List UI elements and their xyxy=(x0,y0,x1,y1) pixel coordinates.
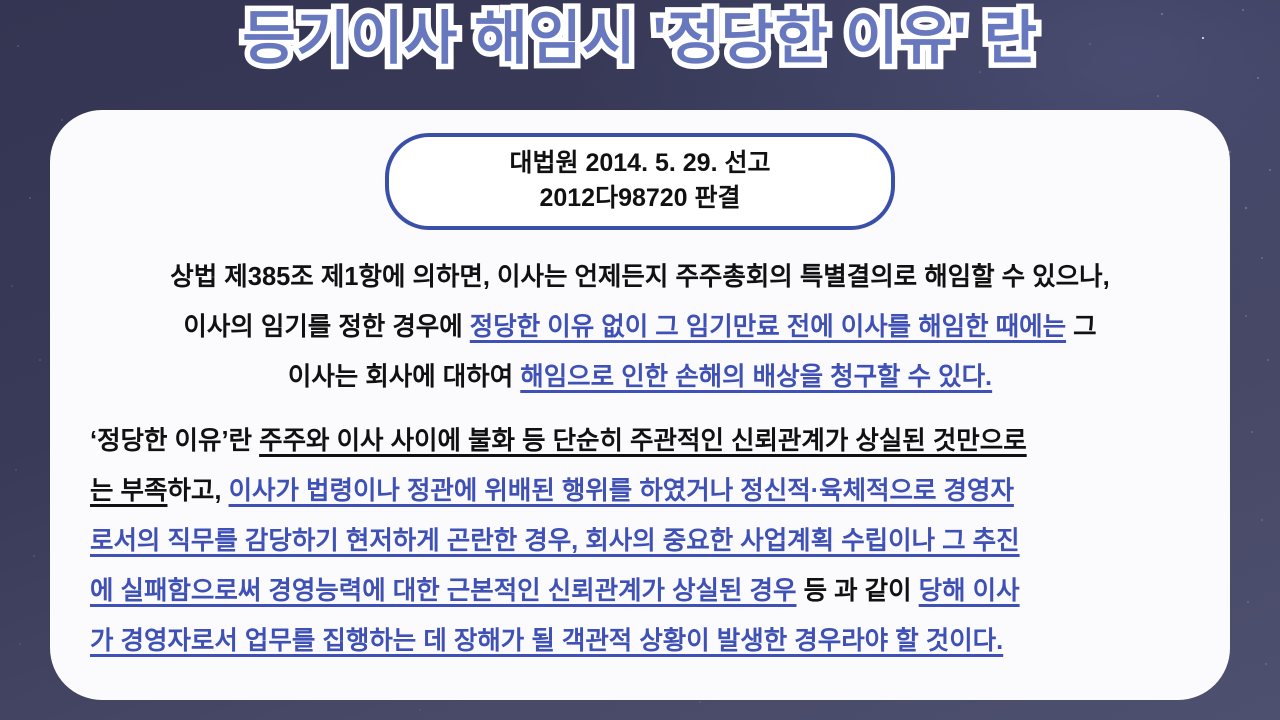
text-run-group: 는 부족하고, 이사가 법령이나 정관에 위배된 행위를 하였거나 정신적·육체… xyxy=(90,466,1014,516)
paragraph-reasoning: ‘정당한 이유’란 주주와 이사 사이에 불화 등 단순히 주관적인 신뢰관계가… xyxy=(76,416,1204,666)
paragraph-statute-line-2: 이사의 임기를 정한 경우에 정당한 이유 없이 그 임기만료 전에 이사를 해… xyxy=(90,302,1190,352)
underline-run: 는 부족 xyxy=(90,477,167,505)
page-title: 등기이사 해임시 '정당한 이유' 란 xyxy=(0,6,1280,73)
citation-line-2: 2012다98720 판결 xyxy=(443,181,837,216)
paragraph-reasoning-line-1: ‘정당한 이유’란 주주와 이사 사이에 불화 등 단순히 주관적인 신뢰관계가… xyxy=(90,416,1190,466)
highlight-run: 가 경영자로서 업무를 집행하는 데 장해가 될 객관적 상황이 발생한 경우라… xyxy=(90,627,1003,655)
highlight-run: 당해 이사 xyxy=(919,577,1020,605)
highlight-run: 로서의 직무를 감당하기 현저하게 곤란한 경우, 회사의 중요한 사업계획 수… xyxy=(90,527,1020,555)
paragraph-statute-line-1: 상법 제385조 제1항에 의하면, 이사는 언제든지 주주총회의 특별결의로 … xyxy=(90,252,1190,302)
paragraph-reasoning-line-4: 에 실패함으로써 경영능력에 대한 근본적인 신뢰관계가 상실된 경우 등 과 … xyxy=(90,566,1190,616)
text-run-group: ‘정당한 이유’란 주주와 이사 사이에 불화 등 단순히 주관적인 신뢰관계가… xyxy=(90,416,1027,466)
highlight-run: 이사가 법령이나 정관에 위배된 행위를 하였거나 정신적·육체적으로 경영자 xyxy=(229,477,1014,505)
underline-run: 주주와 이사 사이에 불화 등 단순히 주관적인 신뢰관계가 상실된 것만으로 xyxy=(259,427,1027,455)
text-run-group: 가 경영자로서 업무를 집행하는 데 장해가 될 객관적 상황이 발생한 경우라… xyxy=(90,616,1003,666)
content-card: 대법원 2014. 5. 29. 선고 2012다98720 판결 상법 제38… xyxy=(50,110,1230,700)
citation-badge: 대법원 2014. 5. 29. 선고 2012다98720 판결 xyxy=(385,133,895,230)
highlight-run: 정당한 이유 없이 그 임기만료 전에 이사를 해임한 때에는 xyxy=(470,313,1066,341)
citation-badge-wrapper: 대법원 2014. 5. 29. 선고 2012다98720 판결 xyxy=(76,133,1204,230)
slide-canvas: 등기이사 해임시 '정당한 이유' 란 대법원 2014. 5. 29. 선고 … xyxy=(0,0,1280,720)
paragraph-reasoning-line-3: 로서의 직무를 감당하기 현저하게 곤란한 경우, 회사의 중요한 사업계획 수… xyxy=(90,516,1190,566)
text-run: 이사의 임기를 정한 경우에 xyxy=(183,313,469,341)
highlight-run: 에 실패함으로써 경영능력에 대한 근본적인 신뢰관계가 상실된 경우 xyxy=(90,577,796,605)
text-run: 등 과 같이 xyxy=(796,577,918,605)
paragraph-statute-line-3: 이사는 회사에 대하여 해임으로 인한 손해의 배상을 청구할 수 있다. xyxy=(90,352,1190,402)
text-run: ‘정당한 이유’란 xyxy=(90,427,259,455)
paragraph-statute: 상법 제385조 제1항에 의하면, 이사는 언제든지 주주총회의 특별결의로 … xyxy=(76,252,1204,402)
highlight-run: 해임으로 인한 손해의 배상을 청구할 수 있다. xyxy=(520,363,992,391)
text-run: 이사는 회사에 대하여 xyxy=(288,363,520,391)
text-run-group: 에 실패함으로써 경영능력에 대한 근본적인 신뢰관계가 상실된 경우 등 과 … xyxy=(90,566,1020,616)
paragraph-reasoning-line-5: 가 경영자로서 업무를 집행하는 데 장해가 될 객관적 상황이 발생한 경우라… xyxy=(90,616,1190,666)
paragraph-reasoning-line-2: 는 부족하고, 이사가 법령이나 정관에 위배된 행위를 하였거나 정신적·육체… xyxy=(90,466,1190,516)
text-run: 그 xyxy=(1066,313,1097,341)
text-run: 하고, xyxy=(167,477,228,505)
citation-line-1: 대법원 2014. 5. 29. 선고 xyxy=(443,146,837,181)
text-run: 상법 제385조 제1항에 의하면, 이사는 언제든지 주주총회의 특별결의로 … xyxy=(170,263,1109,291)
text-run-group: 로서의 직무를 감당하기 현저하게 곤란한 경우, 회사의 중요한 사업계획 수… xyxy=(90,516,1020,566)
